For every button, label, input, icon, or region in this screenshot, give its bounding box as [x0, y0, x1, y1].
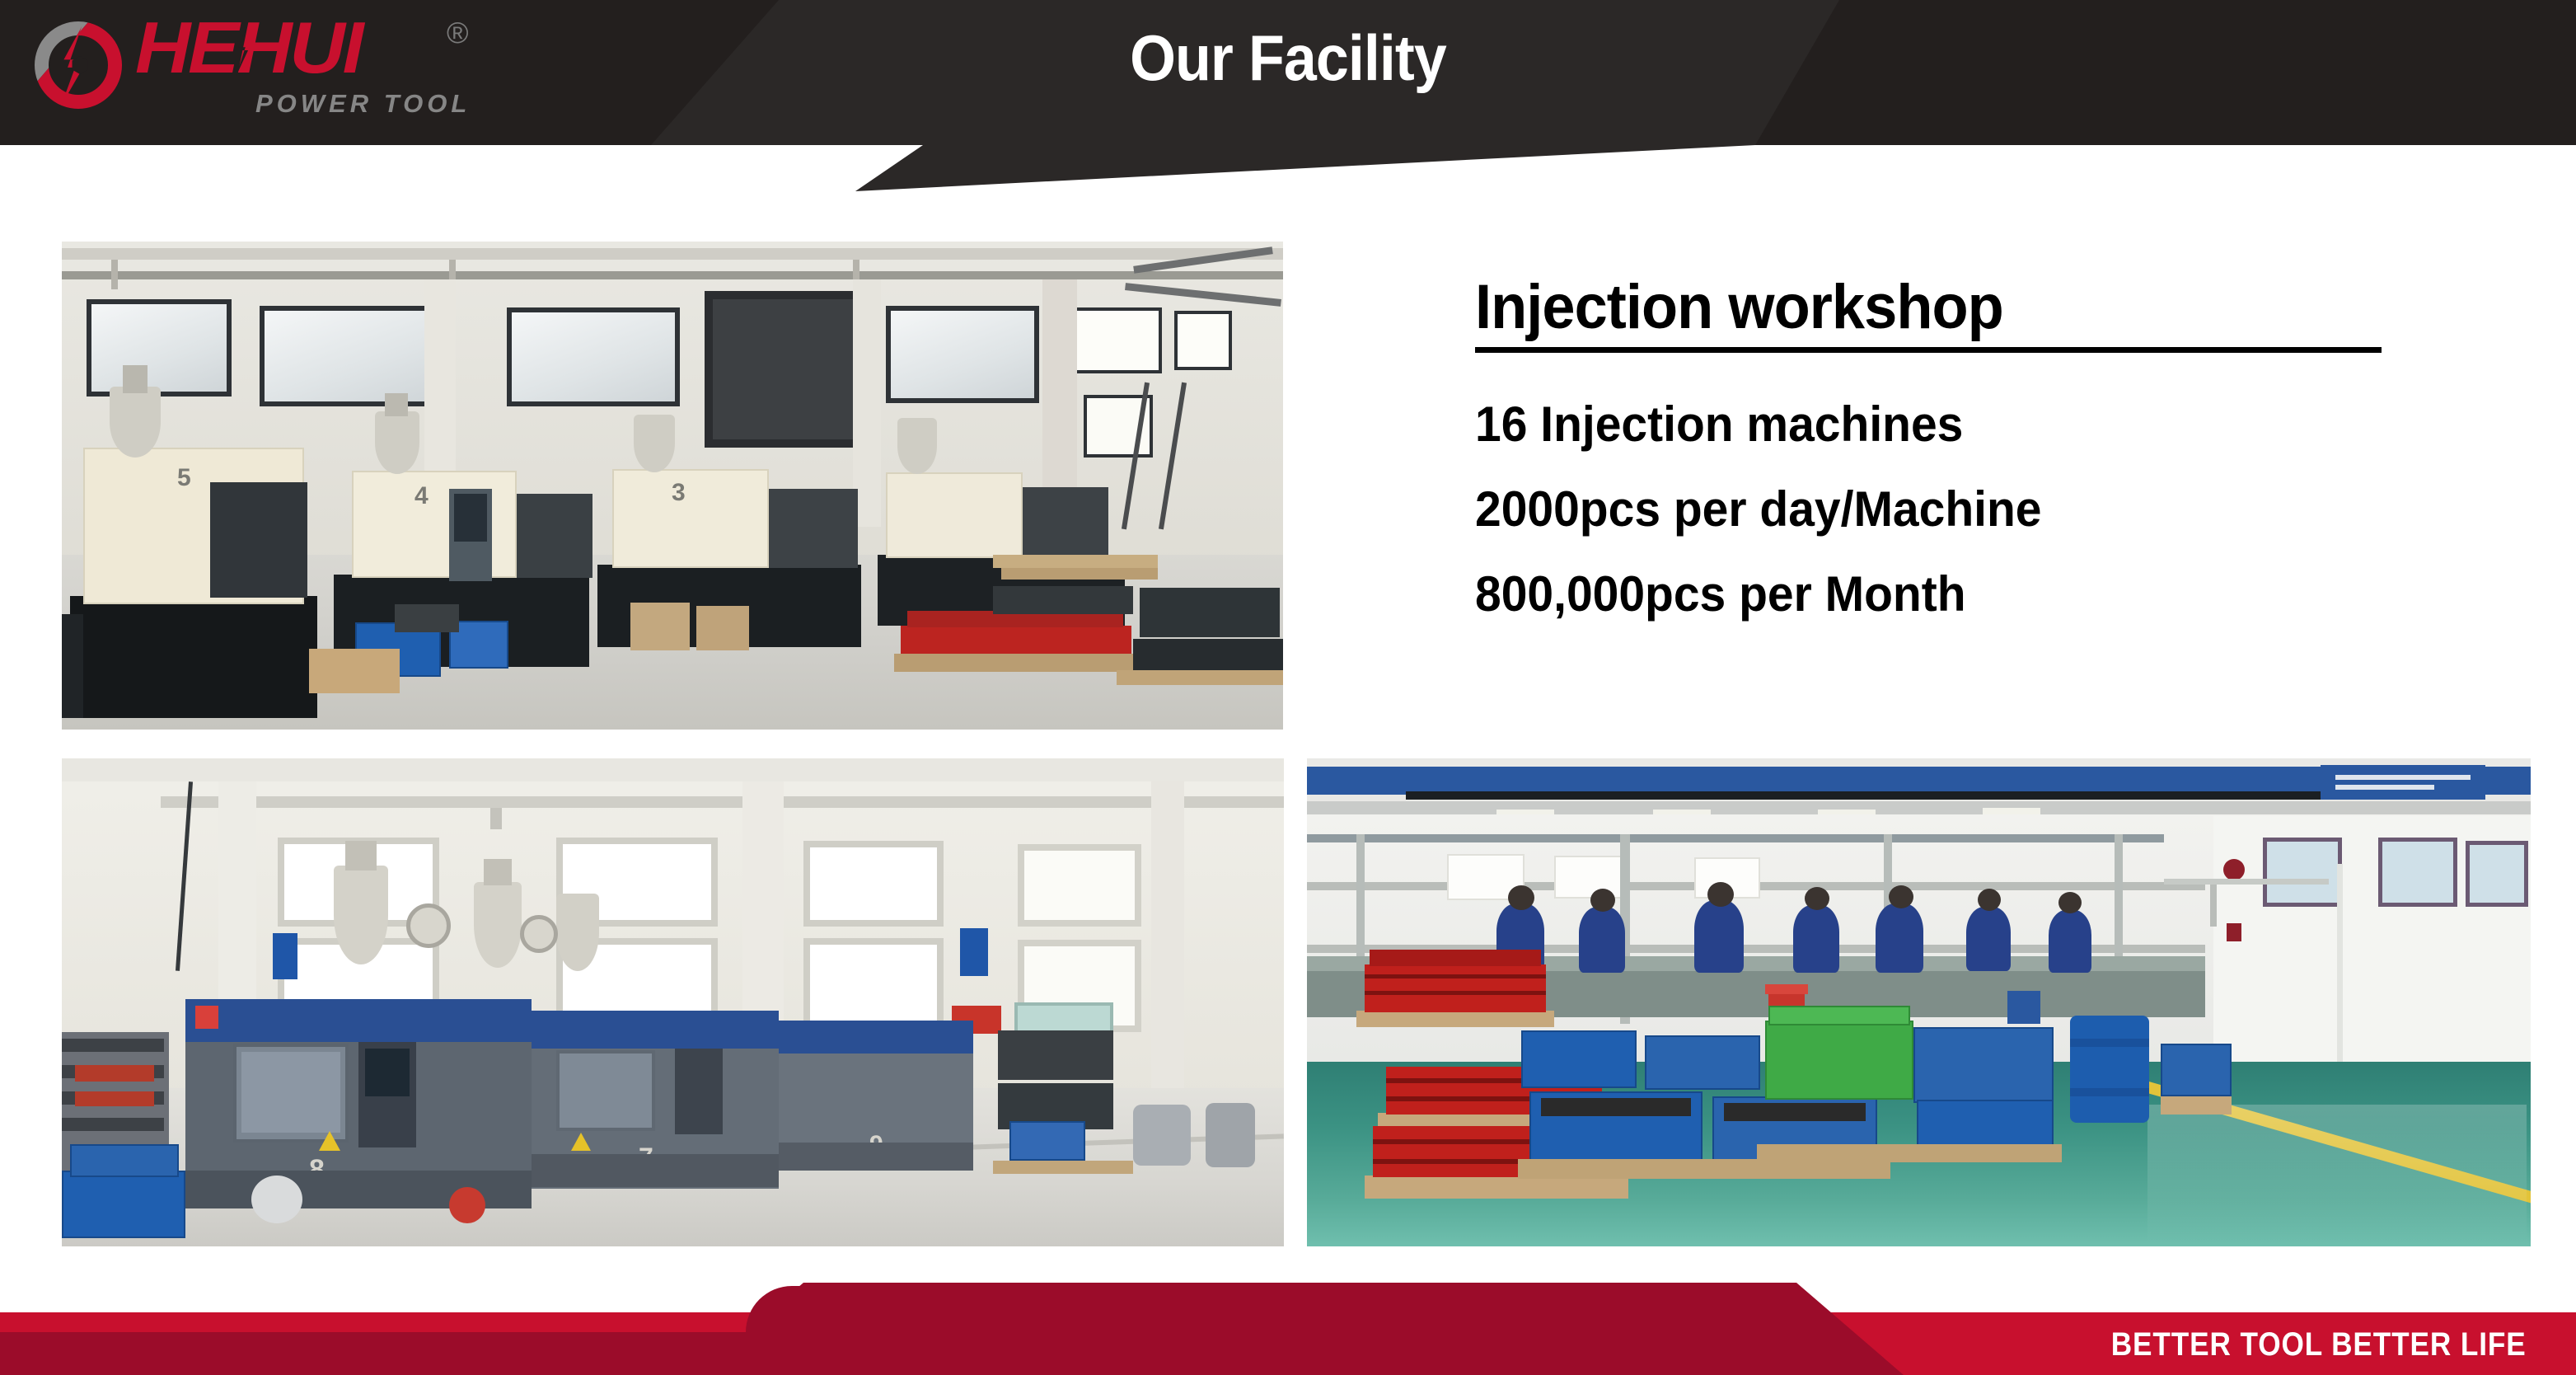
injection-workshop-info: Injection workshop 16 Injection machines…: [1475, 272, 2513, 650]
info-lines: 16 Injection machines 2000pcs per day/Ma…: [1475, 396, 2513, 623]
footer-dark-band-corner: [746, 1286, 845, 1332]
photo-injection-hall-top: 5 4 3: [62, 242, 1283, 730]
info-heading: Injection workshop: [1475, 272, 2003, 342]
info-line-per-day: 2000pcs per day/Machine: [1475, 481, 2461, 539]
info-heading-underline: [1475, 347, 2382, 353]
page-footer: BETTER TOOL BETTER LIFE: [0, 1243, 2576, 1375]
brand-tagline: POWER TOOL: [255, 91, 471, 116]
info-line-per-month: 800,000pcs per Month: [1475, 565, 2461, 624]
footer-tagline: BETTER TOOL BETTER LIFE: [2111, 1326, 2527, 1363]
photo-assembly-line-bottom-right: [1307, 758, 2531, 1246]
page-header: HEHUI ® POWER TOOL Our Facility: [0, 0, 2576, 191]
info-line-machines: 16 Injection machines: [1475, 396, 2461, 454]
photo-injection-machines-bottom-left: 8 7 9: [62, 758, 1284, 1246]
page-title: Our Facility: [103, 23, 2473, 94]
